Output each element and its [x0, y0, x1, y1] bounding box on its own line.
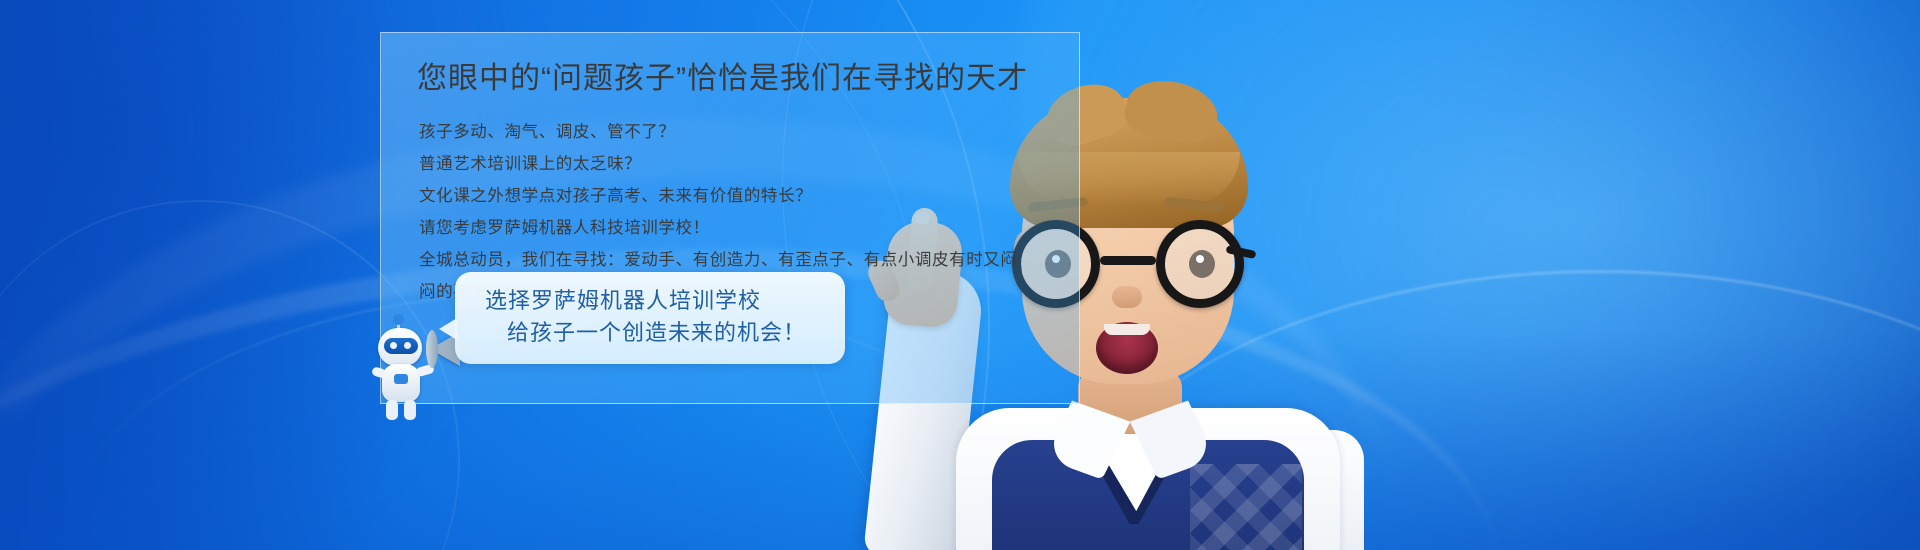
megaphone-rim	[426, 330, 438, 368]
robot-chest-panel	[394, 374, 408, 384]
robot-leg-left	[386, 400, 398, 420]
boy-teeth	[1104, 324, 1150, 335]
robot-eye-right	[404, 342, 411, 349]
robot-leg-right	[404, 400, 416, 420]
robot-antenna-tip	[393, 314, 404, 325]
boy-glasses-bridge	[1100, 256, 1156, 265]
page-title: 您眼中的“问题孩子”恰恰是我们在寻找的天才	[417, 59, 1028, 99]
body-line-4: 请您考虑罗萨姆机器人科技培训学校！	[419, 217, 1059, 241]
boy-glasses-lens-right	[1156, 220, 1244, 308]
boy-vest-argyle-pattern	[1190, 464, 1302, 550]
robot-eye-left	[390, 342, 397, 349]
body-line-3: 文化课之外想学点对孩子高考、未来有价值的特长？	[419, 185, 1059, 209]
boy-nose	[1112, 286, 1142, 308]
body-line-2: 普通艺术培训课上的太乏味？	[419, 153, 1059, 177]
cta-speech-bubble[interactable]: 选择罗萨姆机器人培训学校 给孩子一个创造未来的机会！	[455, 272, 845, 364]
body-line-5: 全城总动员，我们在寻找：爱动手、有创造力、有歪点子、有点小调皮有时又闷	[419, 249, 1059, 273]
body-line-1: 孩子多动、淘气、调皮、管不了？	[419, 121, 1059, 145]
promo-banner: 您眼中的“问题孩子”恰恰是我们在寻找的天才 孩子多动、淘气、调皮、管不了？ 普通…	[0, 0, 1920, 550]
cta-line-1: 选择罗萨姆机器人培训学校	[485, 286, 761, 316]
cta-line-2: 给孩子一个创造未来的机会！	[507, 318, 806, 348]
background-vignette-left	[0, 0, 400, 550]
